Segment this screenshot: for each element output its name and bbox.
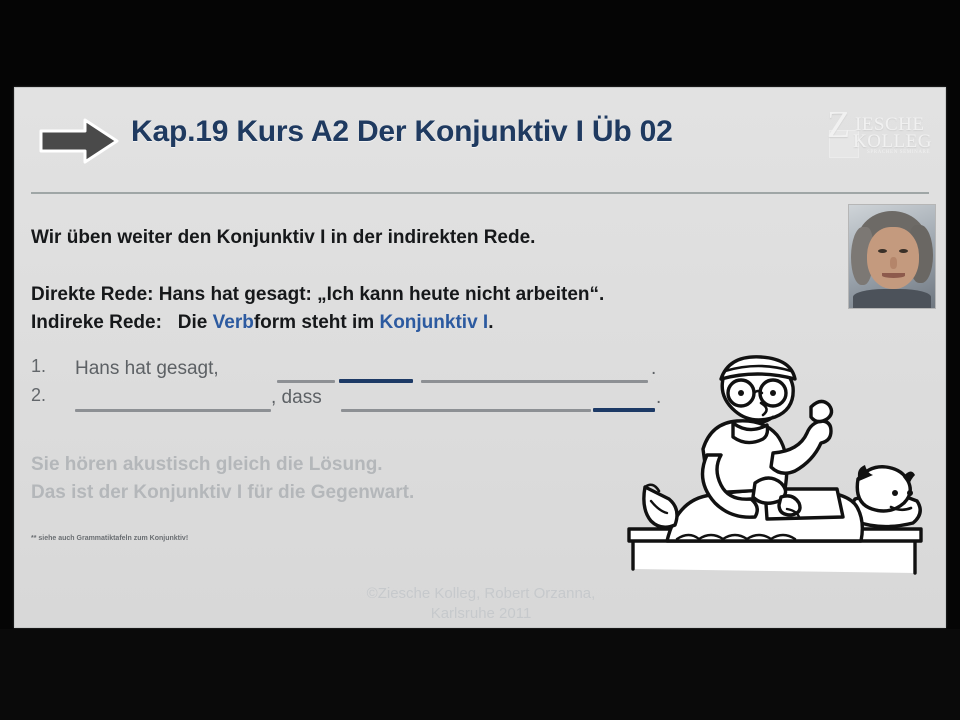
hint-line-2: Das ist der Konjunktiv I für die Gegenwa… [31,482,414,504]
indirect-speech-part3: . [488,312,493,333]
exercise-2-blank-a[interactable] [75,409,271,412]
indirect-speech-highlight-verb: Verb [213,312,254,333]
portrait-mouth [882,273,905,278]
copyright-line-2: Karlsruhe 2011 [15,604,946,624]
logo-line-two: KOLLEG [853,132,932,151]
indirect-speech-label: Indireke Rede: [31,312,162,333]
indirect-speech-part1: Die [178,312,213,333]
slide-header: Kap.19 Kurs A2 Der Konjunktiv I Üb 02 Z … [15,88,946,193]
footnote-text: ** siehe auch Grammatiktafeln zum Konjun… [31,535,188,542]
logo-subtitle: SPRACHEN SEMINARE [867,150,930,155]
direct-speech-sentence: Direkte Rede: Hans hat gesagt: „Ich kann… [31,284,604,306]
exercise-number-1: 1. [31,356,57,377]
letterbox-top [0,0,960,87]
logo-line-one: IESCHE [855,115,925,134]
logo-initial: Z [827,106,850,144]
exercise-1-blank-b-verb[interactable] [339,379,413,383]
header-divider [31,192,929,194]
portrait-nose [890,257,897,269]
ziesche-kolleg-logo: Z IESCHE KOLLEG SPRACHEN SEMINARE [825,104,933,162]
logo-block-icon [829,130,859,158]
indirect-speech-part2: form steht im [254,312,380,333]
page-title: Kap.19 Kurs A2 Der Konjunktiv I Üb 02 [131,115,673,149]
portrait-shoulders [853,289,931,309]
exercise-1-blank-c[interactable] [421,380,648,383]
portrait-eye-right [899,249,908,253]
indirect-speech-sentence: Indireke Rede: Die Verbform steht im Kon… [31,312,493,334]
indirect-speech-highlight-konjunktiv: Konjunktiv I [379,312,488,333]
exercise-number-2: 2. [31,385,57,406]
intro-sentence: Wir üben weiter den Konjunktiv I in der … [31,227,535,249]
right-arrow-icon [37,117,121,165]
presentation-slide: Kap.19 Kurs A2 Der Konjunktiv I Üb 02 Z … [14,87,946,628]
video-player-frame: Kap.19 Kurs A2 Der Konjunktiv I Üb 02 Z … [0,0,960,720]
teacher-portrait-photo [848,204,936,309]
player-control-bar[interactable] [0,629,960,720]
portrait-eye-left [878,249,887,253]
exercise-1-prefix: Hans hat gesagt, [75,358,219,380]
hint-line-1: Sie hören akustisch gleich die Lösung. [31,454,383,476]
exercise-2-conjunction: , dass [271,387,322,409]
exercise-2-blank-b[interactable] [341,409,591,412]
surgeon-operation-cartoon [615,341,945,591]
exercise-1-blank-a[interactable] [277,380,335,383]
